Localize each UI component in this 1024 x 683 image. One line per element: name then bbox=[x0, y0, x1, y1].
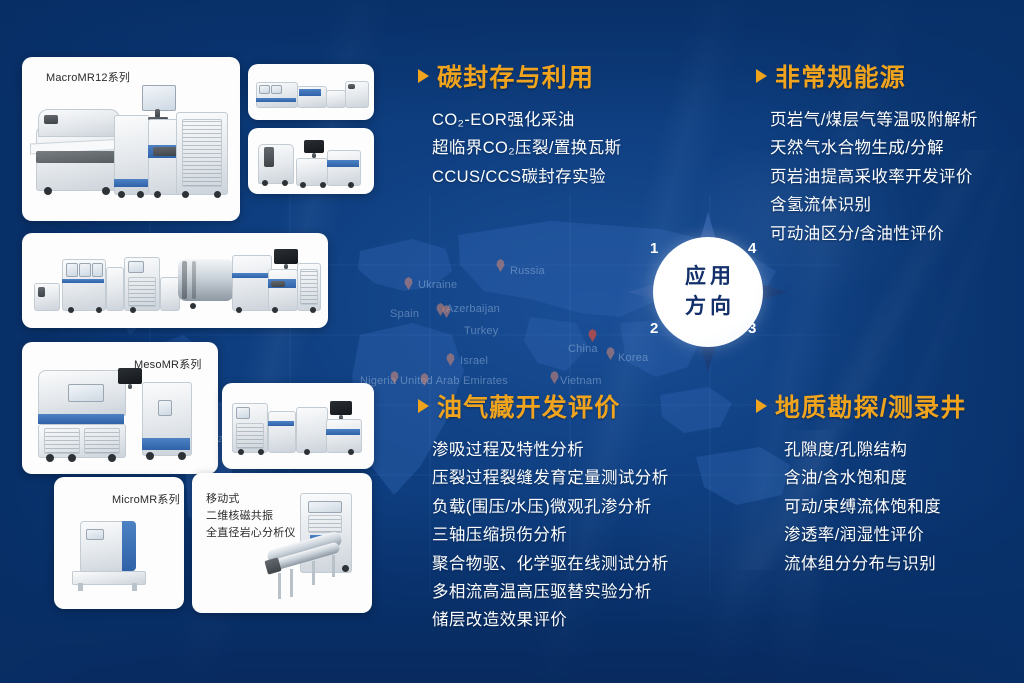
list-item: 含油/含水饱和度 bbox=[784, 464, 967, 492]
section-list-reservoir-development: 渗吸过程及特性分析 压裂过程裂缝发育定量测试分析 负载(围压/水压)微观孔渗分析… bbox=[418, 436, 669, 635]
section-list-geological-exploration: 孔隙度/孔隙结构 含油/含水饱和度 可动/束缚流体饱和度 渗透率/润湿性评价 流… bbox=[756, 436, 967, 578]
section-heading-reservoir-development: 油气藏开发评价 bbox=[418, 388, 669, 424]
section-carbon-storage: 碳封存与利用 CO₂-EOR强化采油 超临界CO₂压裂/置换瓦斯 CCUS/CC… bbox=[418, 58, 621, 191]
section-heading-unconventional-energy: 非常规能源 bbox=[756, 58, 978, 94]
product-card-macromr12[interactable]: MacroMR12系列 bbox=[22, 57, 240, 221]
list-item: 流体组分分布与识别 bbox=[784, 550, 967, 578]
list-item: CO₂-EOR强化采油 bbox=[432, 106, 621, 134]
list-item: 聚合物驱、化学驱在线测试分析 bbox=[432, 550, 669, 578]
product-card-label-mesomr: MesoMR系列 bbox=[134, 356, 202, 372]
list-item: 渗吸过程及特性分析 bbox=[432, 436, 669, 464]
list-item: 负载(围压/水压)微观孔渗分析 bbox=[432, 493, 669, 521]
list-item: 天然气水合物生成/分解 bbox=[770, 134, 978, 162]
section-heading-text: 地质勘探/测录井 bbox=[775, 388, 967, 424]
product-card-label-mobile-nmr: 移动式 二维核磁共振 全直径岩心分析仪 bbox=[206, 491, 296, 542]
compass-number-2: 2 bbox=[650, 320, 658, 337]
list-item: 渗透率/润湿性评价 bbox=[784, 521, 967, 549]
triangle-bullet-icon bbox=[756, 399, 767, 413]
product-card-instrument-line[interactable] bbox=[22, 233, 328, 328]
list-item: 压裂过程裂缝发育定量测试分析 bbox=[432, 464, 669, 492]
section-unconventional-energy: 非常规能源 页岩气/煤层气等温吸附解析 天然气水合物生成/分解 页岩油提高采收率… bbox=[756, 58, 978, 248]
poster-root: United States Brazil Spain Nigeria Ukrai… bbox=[0, 0, 1024, 683]
section-heading-geological-exploration: 地质勘探/测录井 bbox=[756, 388, 967, 424]
list-item: CCUS/CCS碳封存实验 bbox=[432, 163, 621, 191]
section-geological-exploration: 地质勘探/测录井 孔隙度/孔隙结构 含油/含水饱和度 可动/束缚流体饱和度 渗透… bbox=[756, 388, 967, 578]
compass-disc: 应用 方向 bbox=[653, 237, 763, 347]
compass-number-1: 1 bbox=[650, 240, 658, 257]
section-heading-text: 非常规能源 bbox=[775, 58, 906, 94]
section-heading-text: 碳封存与利用 bbox=[437, 58, 594, 94]
triangle-bullet-icon bbox=[756, 69, 767, 83]
list-item: 含氢流体识别 bbox=[770, 191, 978, 219]
list-item: 页岩气/煤层气等温吸附解析 bbox=[770, 106, 978, 134]
triangle-bullet-icon bbox=[418, 399, 429, 413]
list-item: 超临界CO₂压裂/置换瓦斯 bbox=[432, 134, 621, 162]
section-list-unconventional-energy: 页岩气/煤层气等温吸附解析 天然气水合物生成/分解 页岩油提高采收率开发评价 含… bbox=[756, 106, 978, 248]
product-card-mobile-nmr[interactable]: 移动式 二维核磁共振 全直径岩心分析仪 bbox=[192, 473, 372, 613]
product-card-instrument-row-mid[interactable] bbox=[248, 128, 374, 194]
list-item: 可动油区分/含油性评价 bbox=[770, 220, 978, 248]
triangle-bullet-icon bbox=[418, 69, 429, 83]
product-card-instrument-row-top[interactable] bbox=[248, 64, 374, 120]
section-heading-carbon-storage: 碳封存与利用 bbox=[418, 58, 621, 94]
section-list-carbon-storage: CO₂-EOR强化采油 超临界CO₂压裂/置换瓦斯 CCUS/CCS碳封存实验 bbox=[418, 106, 621, 191]
list-item: 孔隙度/孔隙结构 bbox=[784, 436, 967, 464]
product-card-mesomr[interactable]: MesoMR系列 bbox=[22, 342, 218, 474]
section-heading-text: 油气藏开发评价 bbox=[437, 388, 620, 424]
product-card-label-micromr: MicroMR系列 bbox=[112, 491, 180, 507]
list-item: 可动/束缚流体饱和度 bbox=[784, 493, 967, 521]
list-item: 多相流高温高压驱替实验分析 bbox=[432, 578, 669, 606]
list-item: 储层改造效果评价 bbox=[432, 606, 669, 634]
product-card-micromr[interactable]: MicroMR系列 bbox=[54, 477, 184, 609]
product-card-label-macromr12: MacroMR12系列 bbox=[46, 69, 130, 85]
compass-title-line2: 方向 bbox=[681, 292, 735, 322]
list-item: 页岩油提高采收率开发评价 bbox=[770, 163, 978, 191]
list-item: 三轴压缩损伤分析 bbox=[432, 521, 669, 549]
section-reservoir-development: 油气藏开发评价 渗吸过程及特性分析 压裂过程裂缝发育定量测试分析 负载(围压/水… bbox=[418, 388, 669, 635]
compass-title-line1: 应用 bbox=[681, 262, 735, 292]
product-card-instrument-pair[interactable] bbox=[222, 383, 374, 469]
